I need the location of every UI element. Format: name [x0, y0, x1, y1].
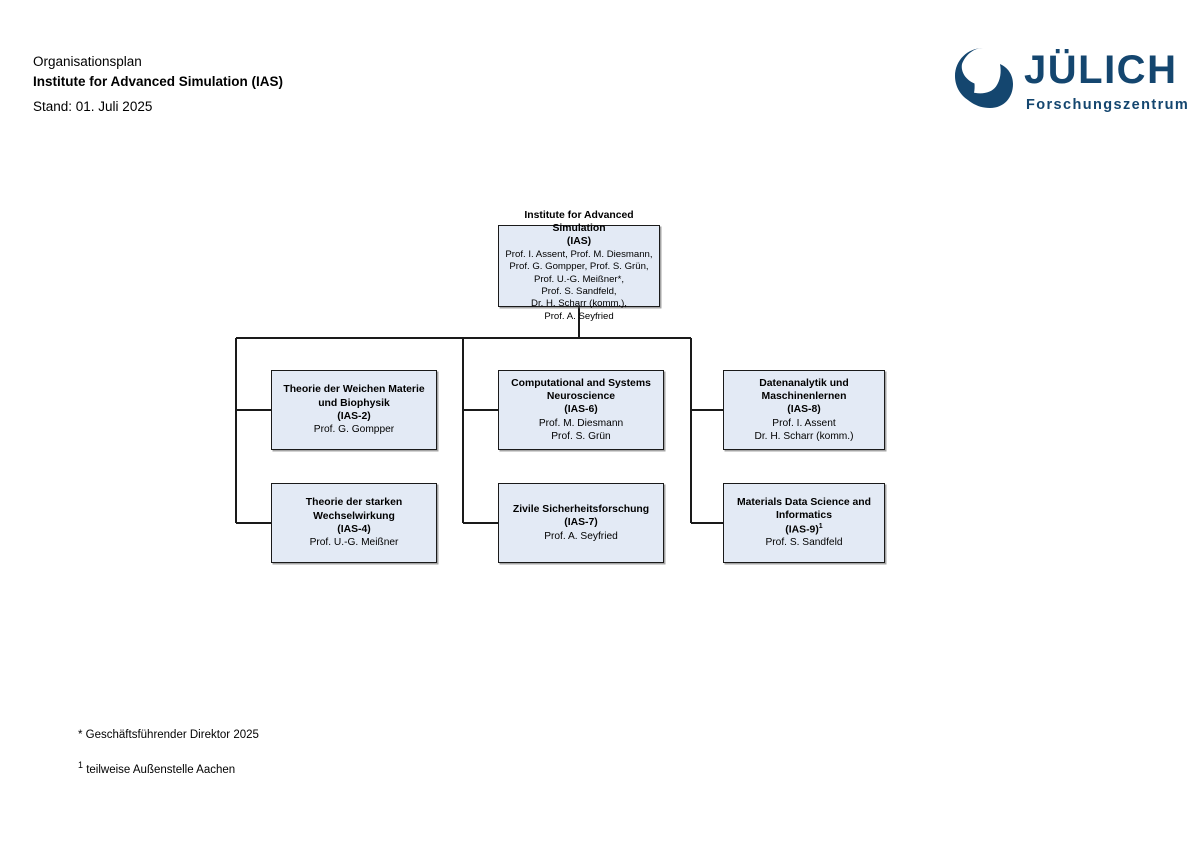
- footnotes: * Geschäftsführender Direktor 2025 1 tei…: [78, 727, 259, 794]
- header-kicker: Organisationsplan: [33, 52, 283, 72]
- footnote-text: teilweise Außenstelle Aachen: [83, 764, 235, 776]
- org-node-title: Datenanalytik und Maschinenlernen: [759, 377, 849, 404]
- logo-subwordmark: Forschungszentrum: [1026, 97, 1189, 113]
- org-node-people: Prof. I. Assent Dr. H. Scharr (komm.): [754, 417, 853, 444]
- org-node-people: Prof. M. Diesmann Prof. S. Grün: [539, 417, 623, 444]
- logo-wordmark: JÜLICH: [1024, 48, 1177, 93]
- org-node-code: (IAS-7): [564, 516, 597, 529]
- org-node-code: (IAS-9): [785, 524, 818, 535]
- document-header: Organisationsplan Institute for Advanced…: [33, 52, 283, 117]
- org-node-title: Theorie der starken Wechselwirkung: [306, 496, 402, 523]
- org-node-ias-7[interactable]: Zivile Sicherheitsforschung (IAS-7) Prof…: [498, 483, 664, 563]
- org-node-title: Zivile Sicherheitsforschung: [513, 503, 649, 516]
- footnote-one: 1 teilweise Außenstelle Aachen: [78, 759, 259, 778]
- org-node-code: (IAS-2): [337, 410, 370, 423]
- org-node-people: Prof. U.-G. Meißner: [310, 536, 399, 549]
- org-node-ias[interactable]: Institute for Advanced Simulation (IAS) …: [498, 225, 660, 307]
- org-node-ias-6[interactable]: Computational and Systems Neuroscience (…: [498, 370, 664, 450]
- org-node-ias-8[interactable]: Datenanalytik und Maschinenlernen (IAS-8…: [723, 370, 885, 450]
- org-node-people: Prof. S. Sandfeld: [765, 536, 842, 549]
- org-node-title: Theorie der Weichen Materie und Biophysi…: [283, 383, 424, 410]
- org-node-code: (IAS-4): [337, 523, 370, 536]
- org-node-people: Prof. I. Assent, Prof. M. Diesmann, Prof…: [505, 249, 652, 324]
- org-node-ias-9[interactable]: Materials Data Science and Informatics (…: [723, 483, 885, 563]
- org-node-title: Materials Data Science and Informatics: [737, 496, 871, 523]
- org-node-code-superscript: 1: [819, 523, 823, 530]
- org-node-people: Prof. G. Gompper: [314, 423, 394, 436]
- org-node-people: Prof. A. Seyfried: [544, 530, 618, 543]
- org-node-title: Computational and Systems Neuroscience: [511, 377, 651, 404]
- org-node-title: Institute for Advanced Simulation: [503, 209, 655, 236]
- org-node-code-with-superscript: (IAS-9)1: [785, 523, 822, 537]
- page-title: Institute for Advanced Simulation (IAS): [33, 72, 283, 92]
- org-node-ias-2[interactable]: Theorie der Weichen Materie und Biophysi…: [271, 370, 437, 450]
- org-node-code: (IAS-6): [564, 403, 597, 416]
- org-node-ias-4[interactable]: Theorie der starken Wechselwirkung (IAS-…: [271, 483, 437, 563]
- org-node-code: (IAS): [567, 235, 591, 248]
- juelich-droplet-icon: [952, 47, 1014, 109]
- juelich-logo: JÜLICH Forschungszentrum: [952, 45, 1164, 115]
- footnote-star: * Geschäftsführender Direktor 2025: [78, 727, 259, 743]
- header-date: Stand: 01. Juli 2025: [33, 97, 283, 117]
- org-node-code: (IAS-8): [787, 403, 820, 416]
- footnote-text: Geschäftsführender Direktor 2025: [82, 729, 258, 741]
